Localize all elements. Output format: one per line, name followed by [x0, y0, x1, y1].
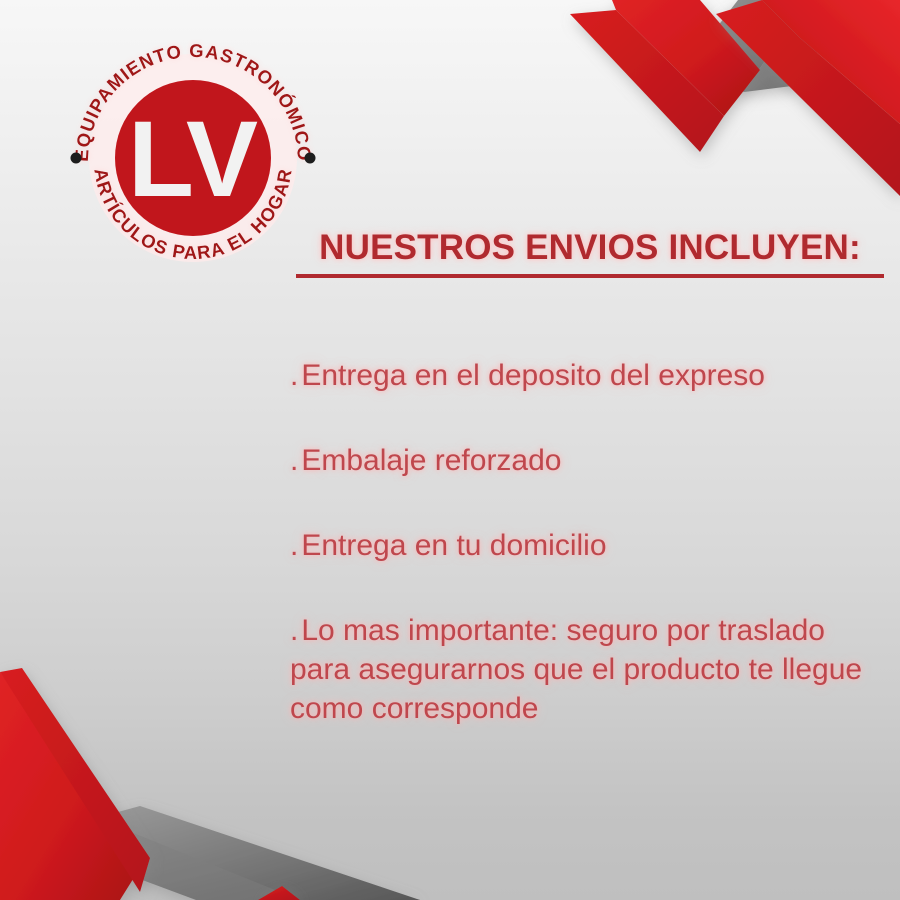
list-item-label: Lo mas importante: seguro por traslado p… — [290, 614, 862, 725]
list-item: .Entrega en el deposito del expreso — [290, 356, 890, 395]
ribbon-bottom-left-red — [0, 668, 150, 900]
list-item: .Embalaje reforzado — [290, 441, 890, 480]
logo-dot-left — [71, 153, 82, 164]
list-item-label: Entrega en tu domicilio — [301, 529, 606, 562]
bullet-marker: . — [290, 359, 298, 392]
logo-dot-right — [305, 153, 316, 164]
bullet-marker: . — [290, 529, 298, 562]
list-item: .Lo mas importante: seguro por traslado … — [290, 611, 890, 728]
logo-monogram: LV — [128, 98, 258, 219]
ribbon-bottom-left-gray — [78, 806, 420, 900]
page-title: NUESTROS ENVIOS INCLUYEN: — [296, 228, 884, 278]
ribbon-top-right-gray — [690, 0, 856, 92]
ribbon-bottom-left-sliver — [258, 886, 300, 900]
list-item: .Entrega en tu domicilio — [290, 526, 890, 565]
benefits-list: .Entrega en el deposito del expreso .Emb… — [290, 356, 890, 728]
list-item-label: Entrega en el deposito del expreso — [301, 359, 765, 392]
list-item-label: Embalaje reforzado — [301, 444, 561, 477]
ribbon-top-right-right-arm — [716, 0, 900, 196]
content-block: NUESTROS ENVIOS INCLUYEN: .Entrega en el… — [290, 228, 890, 728]
bullet-marker: . — [290, 444, 298, 477]
brand-logo: LV EQUIPAMIENTO GASTRONÓMICO ARTÍCULOS P… — [58, 20, 328, 290]
promotional-poster: LV EQUIPAMIENTO GASTRONÓMICO ARTÍCULOS P… — [0, 0, 900, 900]
bullet-marker: . — [290, 614, 298, 647]
ribbon-top-right-left-arm — [570, 0, 760, 152]
